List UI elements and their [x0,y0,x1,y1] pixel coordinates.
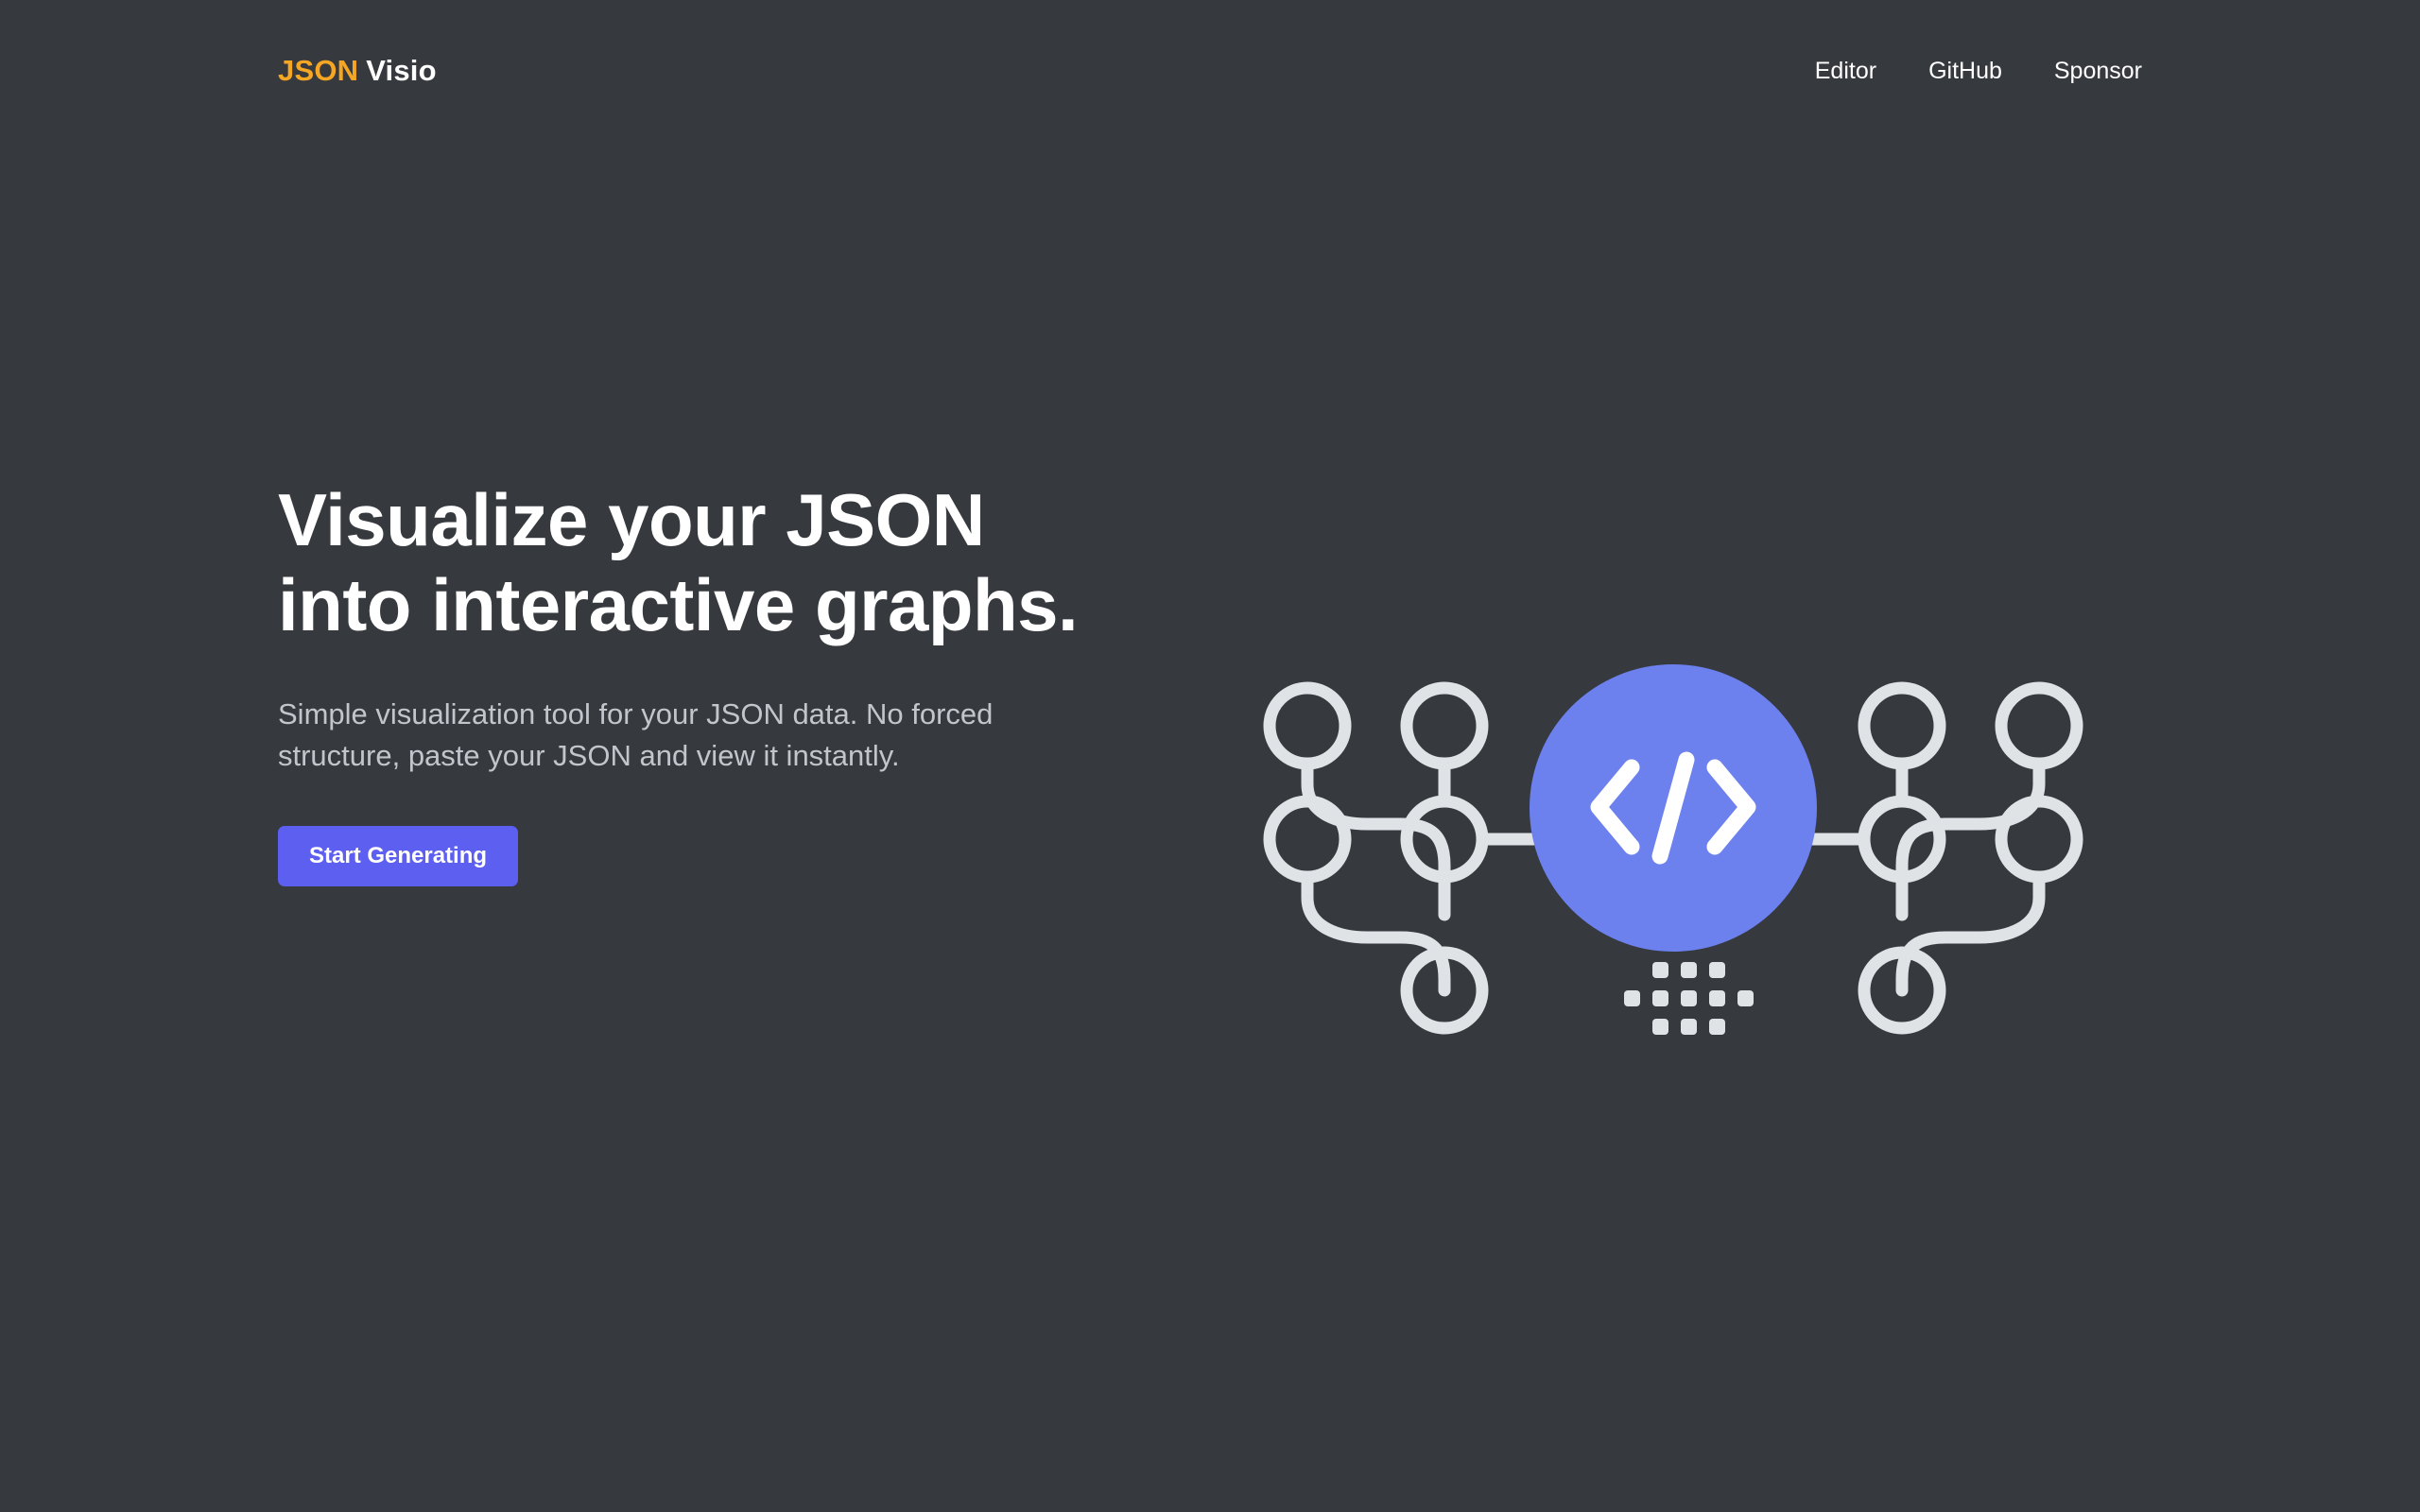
brand-logo-json: JSON [278,54,358,88]
connector-left-bottom [1307,877,1444,990]
node-right-top-center [1864,688,1940,764]
hero-copy: Visualize your JSON into interactive gra… [278,477,1129,886]
connector-right-top [1902,764,2039,877]
connector-left-top [1307,764,1444,877]
node-right-outer-mid [2001,801,2077,877]
nav-link-editor[interactable]: Editor [1815,58,1876,85]
node-right-outer-top [2001,688,2077,764]
nav-link-github[interactable]: GitHub [1928,58,2002,85]
page-title: Visualize your JSON into interactive gra… [278,477,1091,648]
connector-right-bottom [1902,877,2039,990]
brand-logo[interactable]: JSON Visio [278,54,437,88]
main-navigation: Editor GitHub Sponsor [1815,58,2142,85]
node-left-outer-top [1270,688,1345,764]
dot-grid-icon [1624,962,1754,1035]
hero-section: Visualize your JSON into interactive gra… [0,142,2420,1512]
node-left-outer-mid [1270,801,1345,877]
hero-illustration [1229,548,2117,1058]
start-generating-button[interactable]: Start Generating [278,826,518,886]
node-left-top-center [1407,688,1482,764]
site-header: JSON Visio Editor GitHub Sponsor [0,0,2420,142]
json-graph-illustration [1229,548,2117,1058]
nav-link-sponsor[interactable]: Sponsor [2054,58,2142,85]
brand-logo-visio: Visio [366,54,437,88]
hero-subtitle: Simple visualization tool for your JSON … [278,694,1063,777]
